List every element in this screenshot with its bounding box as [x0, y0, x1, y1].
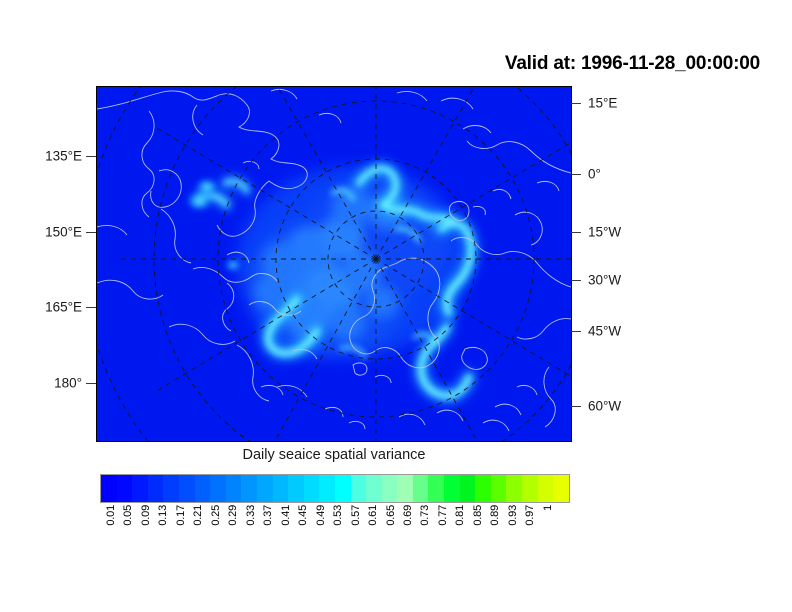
colorbar-tick-label: 0.53: [332, 505, 344, 526]
colorbar-tick-label: 0.85: [472, 505, 484, 526]
tick-left-1: [86, 156, 96, 157]
colorbar-tick-label: 0.61: [367, 505, 379, 526]
map-svg: [97, 87, 571, 441]
map-plot-area[interactable]: [96, 86, 572, 442]
colorbar-band: [460, 475, 476, 502]
colorbar-bands[interactable]: [100, 474, 570, 503]
axis-label-right-15w: 15°W: [588, 225, 621, 240]
axis-label-right-45w: 45°W: [588, 324, 621, 339]
axis-label-right-15e: 15°E: [588, 96, 617, 111]
colorbar-tick-label: 0.33: [245, 505, 257, 526]
tick-right-1: [571, 103, 581, 104]
colorbar-tick-label: 0.09: [140, 505, 152, 526]
colorbar-band: [553, 475, 569, 502]
colorbar-band: [335, 475, 351, 502]
tick-right-5: [571, 331, 581, 332]
colorbar-band: [428, 475, 444, 502]
tick-left-3: [86, 307, 96, 308]
colorbar-tick-label: 0.69: [402, 505, 414, 526]
colorbar-tick-label: 0.73: [419, 505, 431, 526]
colorbar-band: [210, 475, 226, 502]
colorbar-band: [506, 475, 522, 502]
tick-right-3: [571, 232, 581, 233]
colorbar-band: [382, 475, 398, 502]
colorbar-band: [491, 475, 507, 502]
colorbar-tick-label: 0.41: [280, 505, 292, 526]
colorbar-band: [397, 475, 413, 502]
colorbar-band: [288, 475, 304, 502]
colorbar-tick-label: 0.01: [105, 505, 117, 526]
colorbar-band: [195, 475, 211, 502]
colorbar-tick-label: 0.49: [315, 505, 327, 526]
colorbar-tick-label: 0.05: [122, 505, 134, 526]
figure-title: Valid at: 1996-11-28_00:00:00: [505, 53, 760, 75]
axis-label-right-30w: 30°W: [588, 273, 621, 288]
colorbar-band: [366, 475, 382, 502]
colorbar-tick-labels: 0.010.050.090.130.170.210.250.290.330.37…: [100, 505, 570, 565]
colorbar-band: [413, 475, 429, 502]
axis-label-right-0: 0°: [588, 167, 601, 182]
colorbar-band: [304, 475, 320, 502]
colorbar-band: [117, 475, 133, 502]
colorbar-tick-label: 0.17: [175, 505, 187, 526]
figure-caption: Daily seaice spatial variance: [96, 447, 572, 463]
tick-right-4: [571, 280, 581, 281]
colorbar-tick-label: 0.29: [227, 505, 239, 526]
figure-canvas: Valid at: 1996-11-28_00:00:00: [0, 0, 792, 612]
axis-label-left-135e: 135°E: [0, 149, 82, 164]
colorbar-band: [241, 475, 257, 502]
colorbar-tick-label: 0.45: [297, 505, 309, 526]
colorbar-tick-label: 0.89: [489, 505, 501, 526]
axis-label-right-60w: 60°W: [588, 399, 621, 414]
colorbar-band: [351, 475, 367, 502]
colorbar-band: [179, 475, 195, 502]
colorbar-band: [273, 475, 289, 502]
colorbar-band: [132, 475, 148, 502]
colorbar-band: [522, 475, 538, 502]
colorbar-tick-label: 0.93: [507, 505, 519, 526]
tick-left-4: [86, 383, 96, 384]
colorbar-band: [148, 475, 164, 502]
colorbar-band: [101, 475, 117, 502]
colorbar-tick-label: 0.97: [524, 505, 536, 526]
colorbar-band: [538, 475, 554, 502]
colorbar-tick-label: 0.65: [385, 505, 397, 526]
axis-label-left-165e: 165°E: [0, 300, 82, 315]
colorbar-tick-label: 0.13: [157, 505, 169, 526]
axis-label-left-180: 180°: [0, 376, 82, 391]
colorbar-band: [163, 475, 179, 502]
colorbar-tick-label: 0.57: [350, 505, 362, 526]
colorbar-tick-label: 0.37: [262, 505, 274, 526]
tick-right-2: [571, 174, 581, 175]
tick-left-2: [86, 232, 96, 233]
tick-right-6: [571, 406, 581, 407]
axis-label-left-150e: 150°E: [0, 225, 82, 240]
colorbar-tick-label: 1: [542, 505, 554, 511]
colorbar-tick-label: 0.25: [210, 505, 222, 526]
colorbar-tick-label: 0.81: [454, 505, 466, 526]
colorbar-tick-label: 0.21: [192, 505, 204, 526]
colorbar-band: [257, 475, 273, 502]
colorbar-band: [319, 475, 335, 502]
colorbar-tick-label: 0.77: [437, 505, 449, 526]
colorbar-band: [444, 475, 460, 502]
colorbar-band: [475, 475, 491, 502]
colorbar[interactable]: [100, 474, 570, 503]
colorbar-band: [226, 475, 242, 502]
